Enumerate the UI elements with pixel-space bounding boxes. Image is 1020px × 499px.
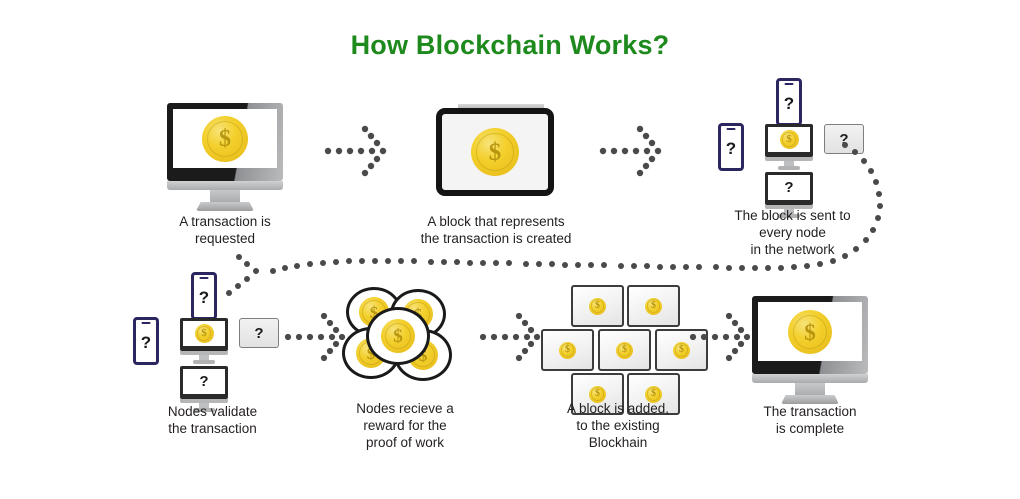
- question-mark-icon: ?: [784, 95, 794, 112]
- arrow-step6-to-step7: [690, 312, 752, 362]
- coin-icon: $: [381, 319, 415, 353]
- coin-symbol: $: [393, 327, 403, 346]
- arrow-step3-to-step4: [225, 140, 925, 300]
- step-7-caption: The transaction is complete: [730, 403, 890, 437]
- coin-icon: $: [559, 342, 576, 359]
- monitor-base: [193, 360, 215, 364]
- step-6-caption: A block is added, to the existing Blockh…: [528, 400, 708, 451]
- question-mark-icon: ?: [141, 334, 151, 351]
- phone-screen: ?: [194, 280, 214, 314]
- node-phone-left: ?: [133, 317, 159, 365]
- step-4-caption: Nodes validate the transaction: [125, 403, 300, 437]
- coin-symbol: $: [651, 301, 656, 311]
- node-phone-top: ?: [191, 272, 217, 320]
- node-phone-top: ?: [776, 78, 802, 126]
- page-title: How Blockchain Works?: [0, 30, 1020, 61]
- question-mark-icon: ?: [199, 374, 208, 389]
- coin-icon: $: [788, 310, 832, 354]
- coin-icon: $: [673, 342, 690, 359]
- tile-body: $: [541, 329, 594, 371]
- tablet-body: ?: [239, 318, 279, 348]
- step-5-caption: Nodes recieve a reward for the proof of …: [325, 400, 485, 451]
- monitor-neck: [795, 383, 825, 397]
- phone-speaker: [142, 322, 151, 324]
- phone-screen: ?: [779, 86, 799, 120]
- phone-speaker: [785, 83, 794, 85]
- block-tile: $: [541, 329, 594, 371]
- coin-icon: $: [645, 298, 662, 315]
- phone-speaker: [200, 277, 209, 279]
- coin-symbol: $: [565, 345, 570, 355]
- phone-body: ?: [133, 317, 159, 365]
- coin-symbol: $: [804, 321, 816, 344]
- block-tile: $: [598, 329, 651, 371]
- monitor-screen: ?: [183, 369, 225, 394]
- phone-body: ?: [776, 78, 802, 126]
- node-tablet-right: ?: [239, 318, 279, 348]
- question-mark-icon: ?: [254, 326, 263, 341]
- phone-body: ?: [191, 272, 217, 320]
- arrow-step4-to-step5: [285, 312, 347, 362]
- tile-body: $: [571, 285, 624, 327]
- arrow-step5-to-step6: [480, 312, 542, 362]
- block-tile: $: [627, 285, 680, 327]
- question-mark-icon: ?: [199, 289, 209, 306]
- monitor-screen: $: [758, 302, 862, 361]
- tablet-top-rail: [458, 104, 544, 108]
- coin-symbol: $: [595, 389, 600, 399]
- step-5-icon: $ $ $ $ $: [342, 287, 470, 397]
- reward-oval-center: $: [366, 307, 430, 365]
- blockchain-infographic: How Blockchain Works? $ A transaction is…: [0, 0, 1020, 499]
- phone-screen: ?: [136, 325, 156, 359]
- block-tile: $: [571, 285, 624, 327]
- coin-icon: $: [616, 342, 633, 359]
- coin-symbol: $: [595, 301, 600, 311]
- coin-symbol: $: [201, 328, 207, 339]
- tile-body: $: [627, 285, 680, 327]
- coin-symbol: $: [622, 345, 627, 355]
- monitor-chin: [752, 374, 868, 383]
- coin-symbol: $: [651, 389, 656, 399]
- coin-icon: $: [589, 298, 606, 315]
- tile-body: $: [598, 329, 651, 371]
- coin-symbol: $: [679, 345, 684, 355]
- monitor-screen: $: [183, 321, 225, 346]
- phone-speaker: [727, 128, 736, 130]
- coin-icon: $: [195, 324, 214, 343]
